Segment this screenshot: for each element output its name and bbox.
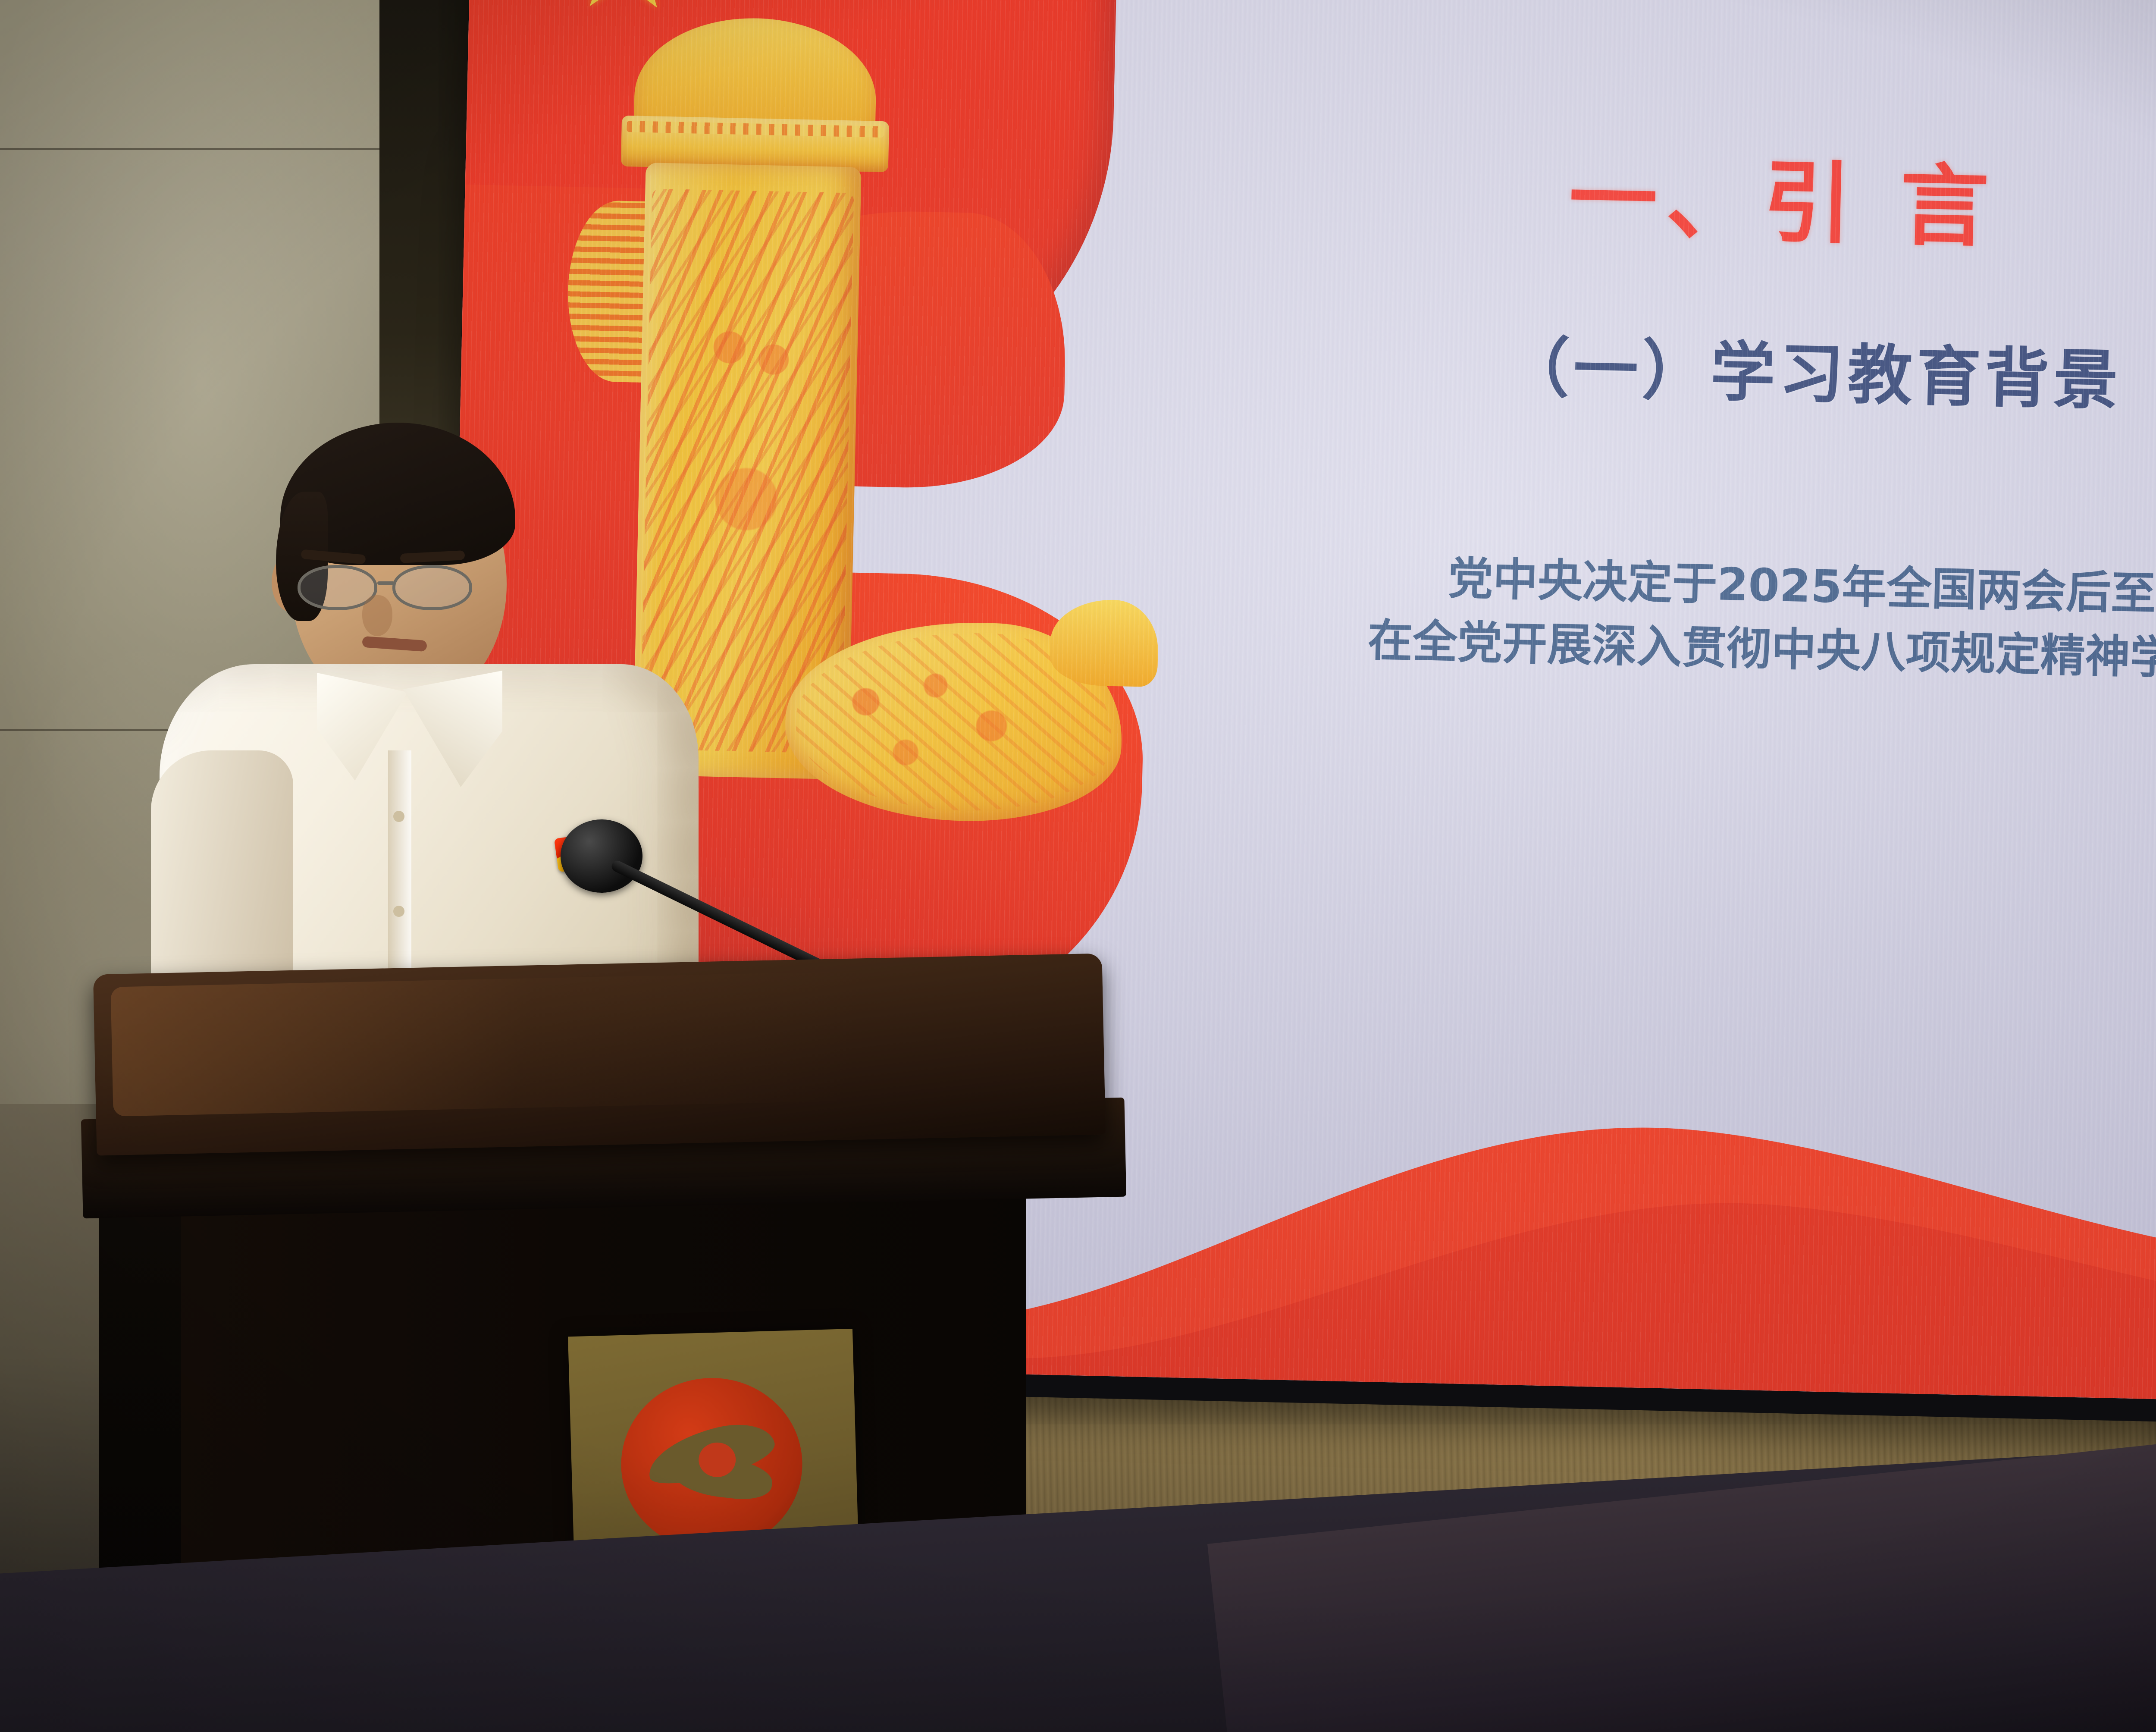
company-logo-icon bbox=[619, 1375, 805, 1553]
podium-desktop bbox=[93, 954, 1106, 1156]
eyeglasses-icon bbox=[293, 565, 509, 617]
nose bbox=[362, 595, 392, 636]
shirt-button bbox=[393, 906, 404, 917]
photograph-scene: ★ ★ ★ ★ 一、引 言 （一）学习教育背景 党中央决定于2025年全国两会后… bbox=[0, 0, 2156, 1732]
glasses-bridge bbox=[377, 581, 395, 585]
podium-sheen bbox=[110, 968, 1036, 1117]
shirt-button bbox=[393, 811, 404, 822]
microphone-head-icon bbox=[561, 819, 642, 893]
glasses-lens bbox=[392, 565, 472, 610]
